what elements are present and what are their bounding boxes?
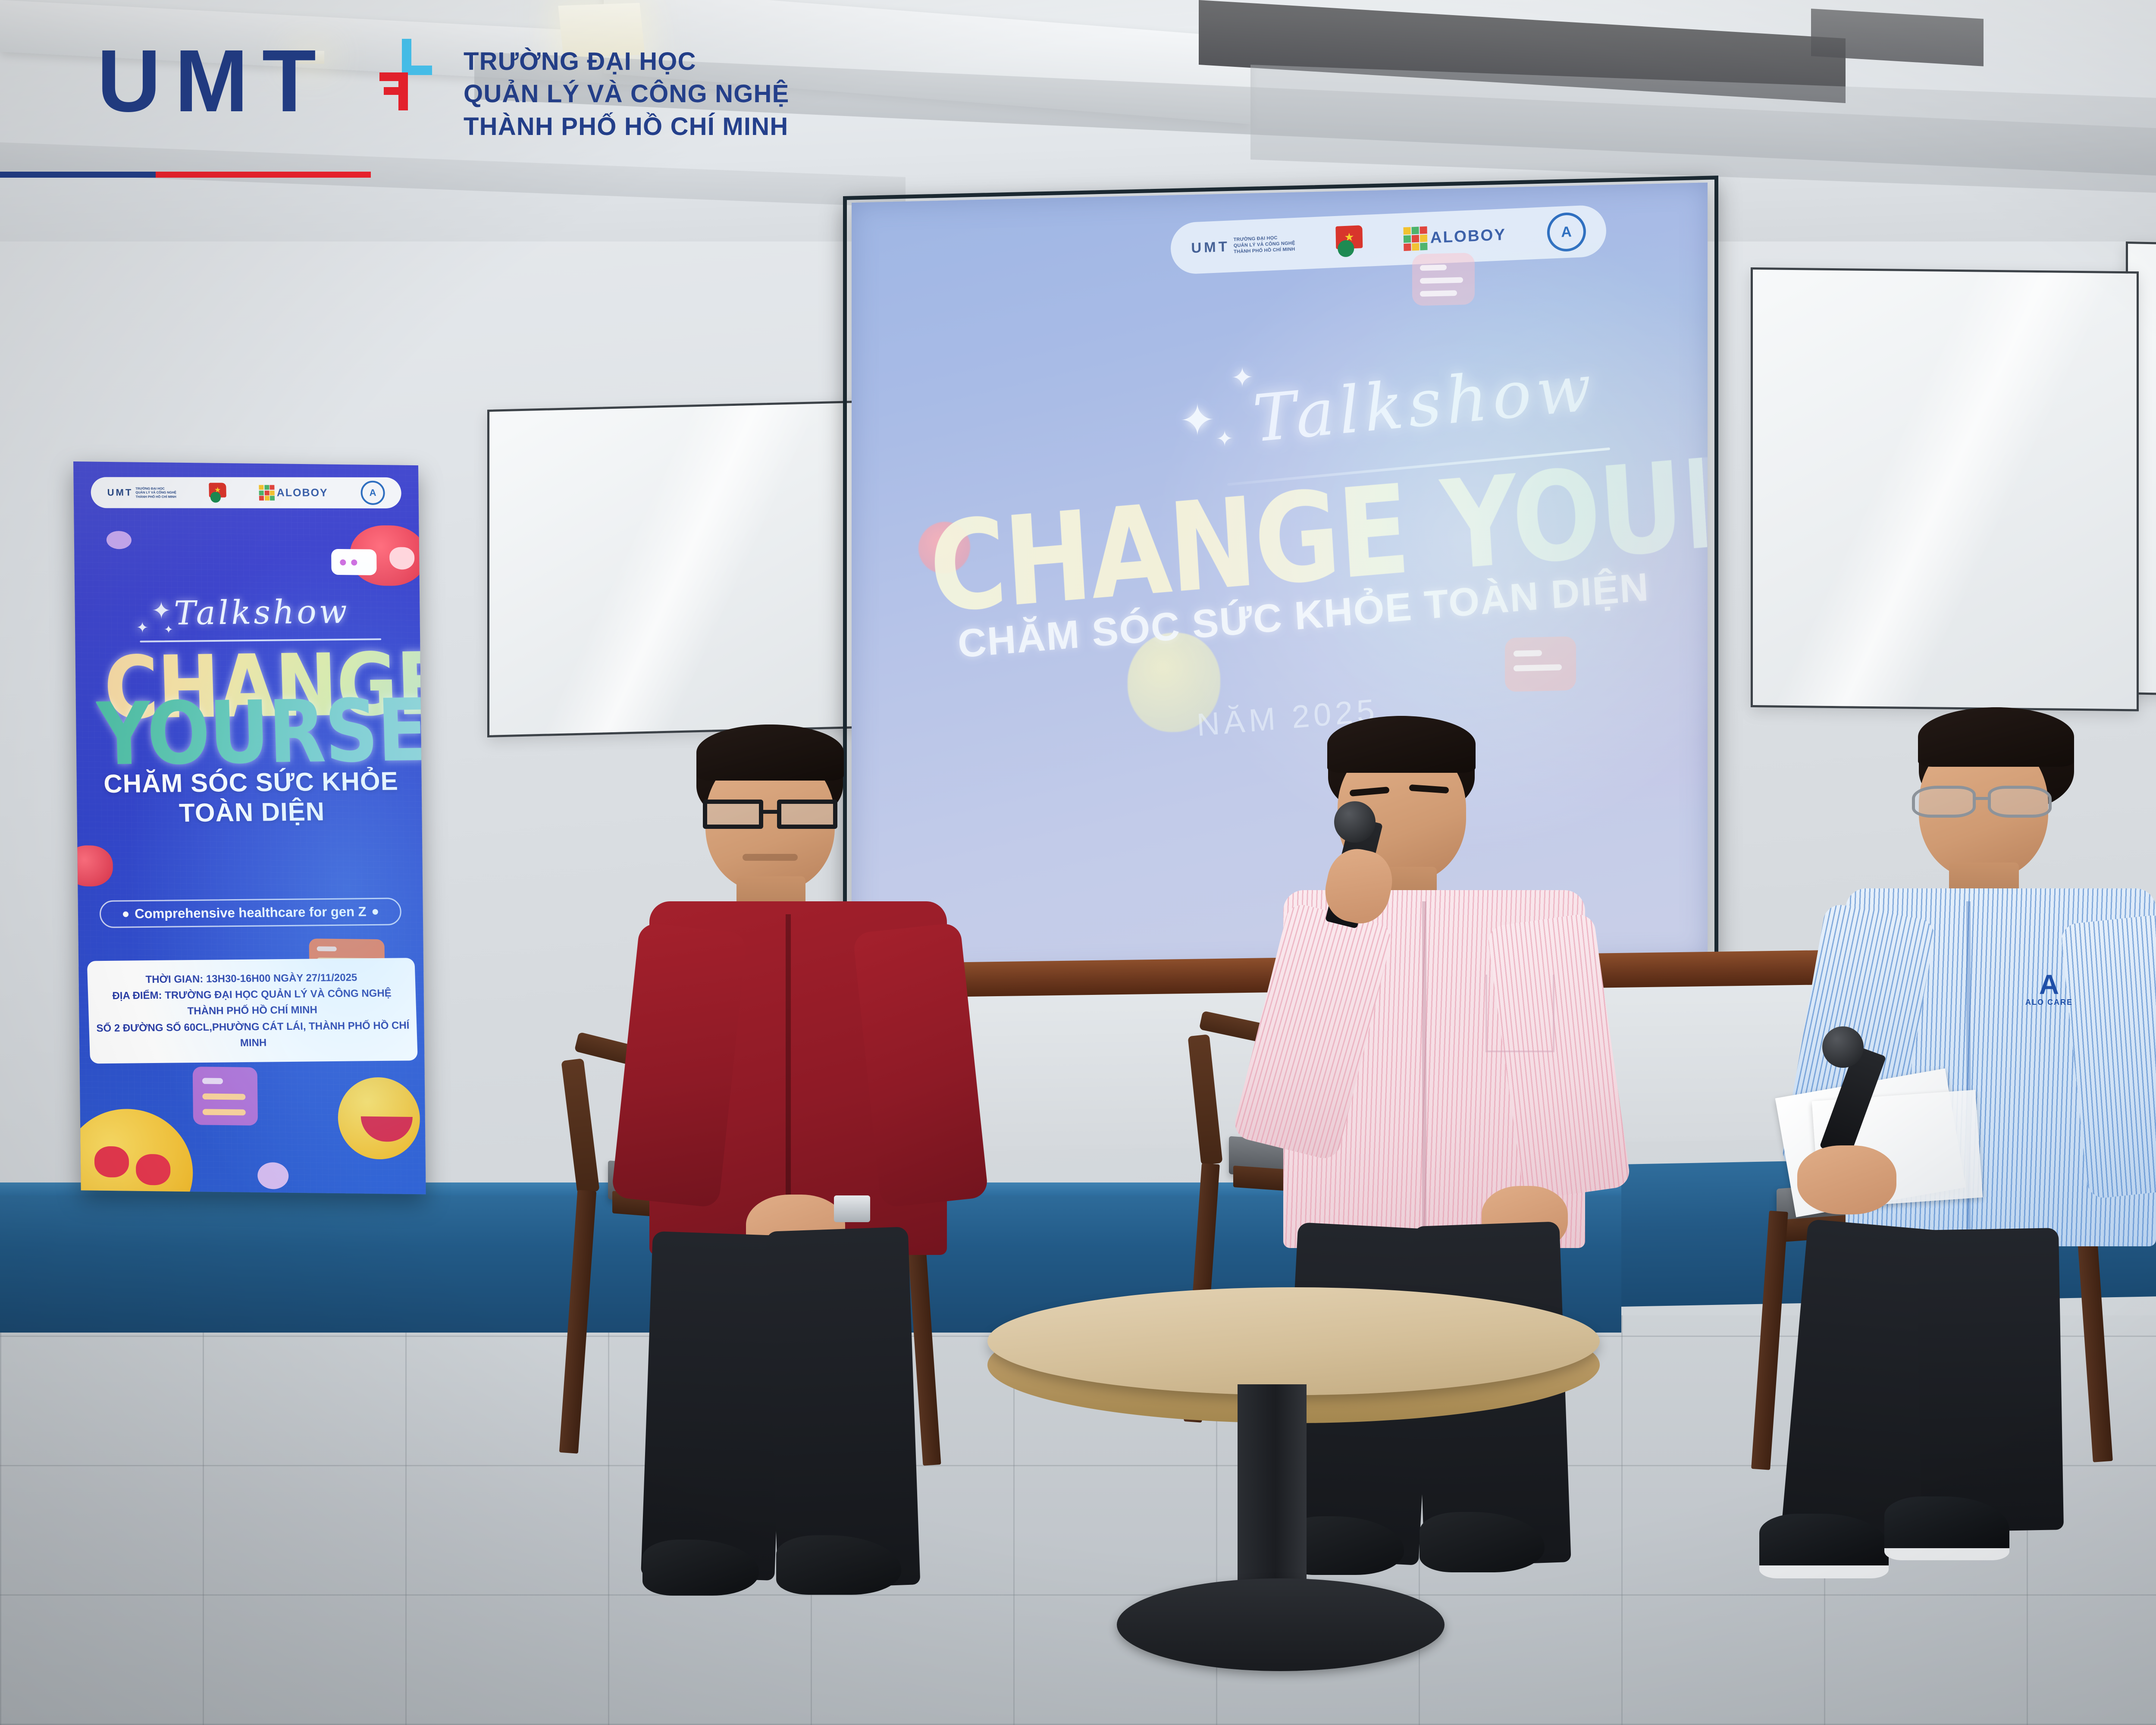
glasses-icon <box>701 797 842 832</box>
hair-top <box>1918 707 2074 767</box>
aloboy-wordmark: ALOBOY <box>1430 226 1506 247</box>
event-standee-banner: UMT TRƯỜNG ĐẠI HỌC QUẢN LÝ VÀ CÔNG NGHỆ … <box>73 461 426 1194</box>
leg-left <box>641 1231 787 1581</box>
standee-info-venue: ĐỊA ĐIỂM: TRƯỜNG ĐẠI HỌC QUẢN LÝ VÀ CÔNG… <box>94 985 410 1004</box>
bullet-dot-icon <box>372 909 378 914</box>
sponsor-umt-subtext: TRƯỜNG ĐẠI HỌC QUẢN LÝ VÀ CÔNG NGHỆ THÀN… <box>1233 235 1295 255</box>
bullet-dot-icon <box>123 911 128 917</box>
wristwatch <box>834 1195 870 1222</box>
standee-tagline-text: Comprehensive healthcare for gen Z <box>135 904 367 922</box>
standee-info-card: THỜI GIAN: 13H30-16H00 NGÀY 27/11/2025 Đ… <box>87 958 418 1063</box>
event-photo-scene: UMT TRƯỜNG ĐẠI HỌC QUẢN LÝ VÀ CÔNG NGHỆ … <box>0 0 2156 1725</box>
sponsor-umt-wordmark: UMT <box>1191 238 1230 256</box>
leg-right <box>766 1226 921 1589</box>
hair-top <box>696 724 844 781</box>
microphone-head <box>1822 1026 1864 1068</box>
whiteboard-left <box>487 400 875 737</box>
whiteboard-center-right <box>1751 267 2139 711</box>
standee-info-address: SỐ 2 ĐƯỜNG SỐ 60CL,PHƯỜNG CÁT LÁI, THÀNH… <box>95 1017 411 1052</box>
bubble-decor <box>257 1162 289 1189</box>
standee-youth-union-logo: ★ <box>209 483 226 502</box>
microphone-head <box>1334 801 1376 843</box>
standee-umt-line1: TRƯỜNG ĐẠI HỌC <box>135 486 176 490</box>
umt-name-line3: THÀNH PHỐ HỒ CHÍ MINH <box>464 110 790 143</box>
heart-reaction-emoji <box>73 845 113 887</box>
sponsor-alocare-logo: A <box>1547 212 1586 252</box>
table-top <box>987 1287 1600 1395</box>
standee-umt-line2: QUẢN LÝ VÀ CÔNG NGHỆ <box>135 491 176 495</box>
umt-cross-mark-icon <box>379 39 431 114</box>
mouth <box>743 854 798 861</box>
standee-alocare-logo: A <box>360 481 385 505</box>
bubble-decor <box>107 531 132 549</box>
umt-wordmark: UMT <box>97 30 330 132</box>
screen-talkshow-script: Talkshow <box>1250 350 1598 457</box>
laughing-emoji <box>338 1077 420 1160</box>
shirt-pocket <box>1485 975 1554 1052</box>
sneaker-left <box>1759 1514 1889 1578</box>
alocare-monogram: A <box>1561 223 1572 241</box>
chat-bubble-decor <box>1505 636 1576 692</box>
umt-accent-rule <box>0 172 371 178</box>
standee-aloboy-logo: ALOBOY <box>259 485 328 501</box>
sponsor-youth-union-logo: ★ <box>1335 225 1363 257</box>
sponsor-umt-logo: UMT TRƯỜNG ĐẠI HỌC QUẢN LÝ VÀ CÔNG NGHỆ … <box>1191 235 1295 257</box>
hand-holding-mic <box>1797 1145 1896 1214</box>
screen-sponsor-bar: UMT TRƯỜNG ĐẠI HỌC QUẢN LÝ VÀ CÔNG NGHỆ … <box>1170 204 1607 275</box>
sneaker-right <box>1884 1496 2009 1560</box>
shirt-placket <box>1422 901 1426 1229</box>
standee-alocare-monogram: A <box>369 487 376 499</box>
standee-umt-line3: THÀNH PHỐ HỒ CHÍ MINH <box>135 495 176 499</box>
speaker-left <box>573 724 1031 1578</box>
leg-right <box>1916 1228 2064 1532</box>
table-base <box>1117 1578 1445 1671</box>
speaker-right: A ALO CARE <box>1695 707 2156 1561</box>
alocare-logo-on-shirt: A ALO CARE <box>2019 969 2079 1020</box>
standee-umt-wordmark: UMT <box>107 487 133 498</box>
umt-name-line2: QUẢN LÝ VÀ CÔNG NGHỆ <box>464 78 790 110</box>
chat-bubble-decor <box>1412 253 1475 306</box>
chat-bubble-decor <box>331 549 377 575</box>
alocare-caption: ALO CARE <box>2019 998 2079 1007</box>
chat-bubble-decor <box>193 1066 258 1126</box>
standee-subtitle: CHĂM SÓC SỨC KHỎE TOÀN DIỆN <box>73 766 426 829</box>
heart-eyes-emoji <box>73 1108 194 1195</box>
standee-umt-subtext: TRƯỜNG ĐẠI HỌC QUẢN LÝ VÀ CÔNG NGHỆ THÀN… <box>135 486 176 499</box>
umt-fullname: TRƯỜNG ĐẠI HỌC QUẢN LÝ VÀ CÔNG NGHỆ THÀN… <box>464 45 790 143</box>
standee-sponsor-bar: UMT TRƯỜNG ĐẠI HỌC QUẢN LÝ VÀ CÔNG NGHỆ … <box>91 477 401 508</box>
standee-umt-logo: UMT TRƯỜNG ĐẠI HỌC QUẢN LÝ VÀ CÔNG NGHỆ … <box>107 486 176 499</box>
umt-logo-header: UMT TRƯỜNG ĐẠI HỌC QUẢN LÝ VÀ CÔNG NGHỆ … <box>0 0 992 203</box>
umt-name-line1: TRƯỜNG ĐẠI HỌC <box>464 45 790 78</box>
glasses-icon <box>1910 783 2053 821</box>
sponsor-aloboy-logo: ALOBOY <box>1403 223 1506 251</box>
standee-aloboy-blocks-icon <box>259 485 275 501</box>
standee-aloboy-wordmark: ALOBOY <box>276 486 328 499</box>
hair-top <box>1327 716 1476 773</box>
standee-tagline-pill: Comprehensive healthcare for gen Z <box>99 897 402 928</box>
aloboy-blocks-icon <box>1403 226 1427 251</box>
shirt-placket <box>786 914 791 1233</box>
standee-talkshow-script: Talkshow <box>173 592 350 632</box>
